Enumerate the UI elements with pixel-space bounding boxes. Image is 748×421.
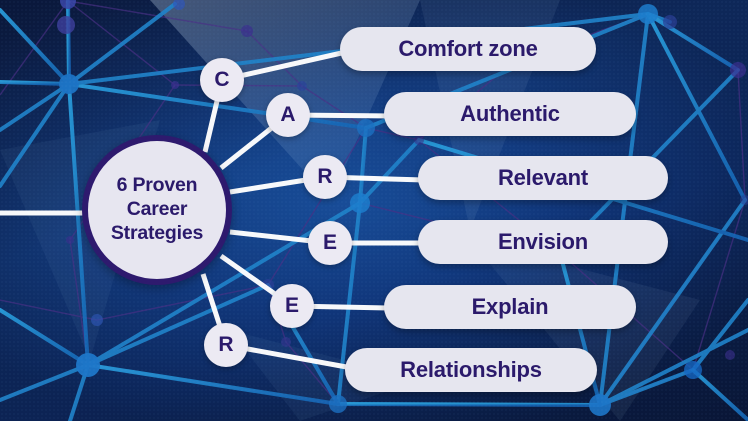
letter-node-r2-label: R [218,333,233,357]
letter-node-a-label: A [280,103,295,127]
letter-node-r1-label: R [317,165,332,189]
letter-node-e2-label: E [285,294,299,318]
strategy-pill-relationships-label: Relationships [400,357,542,383]
strategy-pill-relevant-label: Relevant [498,165,588,191]
strategy-pill-relationships[interactable]: Relationships [345,348,597,392]
strategy-pill-envision-label: Envision [498,229,588,255]
letter-node-e1[interactable]: E [308,221,352,265]
letter-node-e1-label: E [323,231,337,255]
infographic-canvas: 6 Proven Career Strategies C A R E E R C… [0,0,748,421]
strategy-pill-authentic[interactable]: Authentic [384,92,636,136]
central-hub-label: 6 Proven Career Strategies [107,174,207,245]
strategy-pill-authentic-label: Authentic [460,101,560,127]
letter-node-e2[interactable]: E [270,284,314,328]
letter-node-a[interactable]: A [266,93,310,137]
hub-line-2: Career [111,198,203,222]
strategy-pill-relevant[interactable]: Relevant [418,156,668,200]
strategy-pill-comfort-zone-label: Comfort zone [398,36,537,62]
hub-line-3: Strategies [111,222,203,246]
letter-node-r2[interactable]: R [204,323,248,367]
letter-node-c-label: C [214,68,229,92]
strategy-pill-explain[interactable]: Explain [384,285,636,329]
letter-node-r1[interactable]: R [303,155,347,199]
strategy-pill-envision[interactable]: Envision [418,220,668,264]
strategy-pill-explain-label: Explain [472,294,549,320]
central-hub[interactable]: 6 Proven Career Strategies [82,135,232,285]
strategy-pill-comfort-zone[interactable]: Comfort zone [340,27,596,71]
hub-line-1: 6 Proven [111,174,203,198]
letter-node-c[interactable]: C [200,58,244,102]
